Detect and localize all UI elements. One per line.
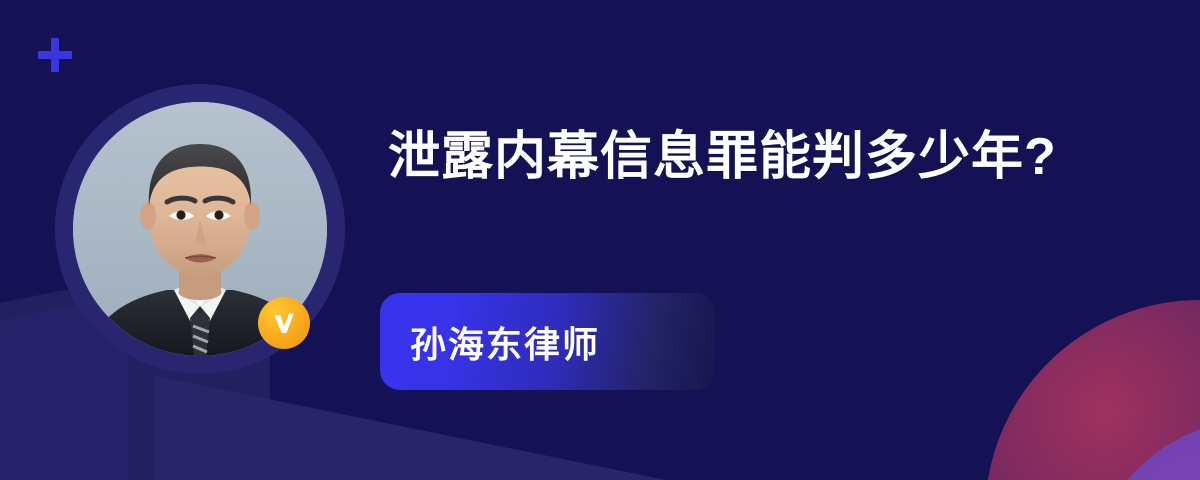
author-name-button[interactable]: 孙海东律师 [380,293,715,390]
banner-content: 泄露内幕信息罪能判多少年? 孙海东律师 [388,118,1088,196]
author-name-label: 孙海东律师 [410,316,600,368]
plus-icon [38,38,72,72]
background-orb-violet [1090,420,1200,480]
verified-badge-icon [258,297,310,349]
profile-banner: 泄露内幕信息罪能判多少年? 孙海东律师 [0,0,1200,480]
page-title: 泄露内幕信息罪能判多少年? [388,118,1088,196]
avatar[interactable] [55,84,345,374]
background-orb-magenta [985,300,1200,480]
